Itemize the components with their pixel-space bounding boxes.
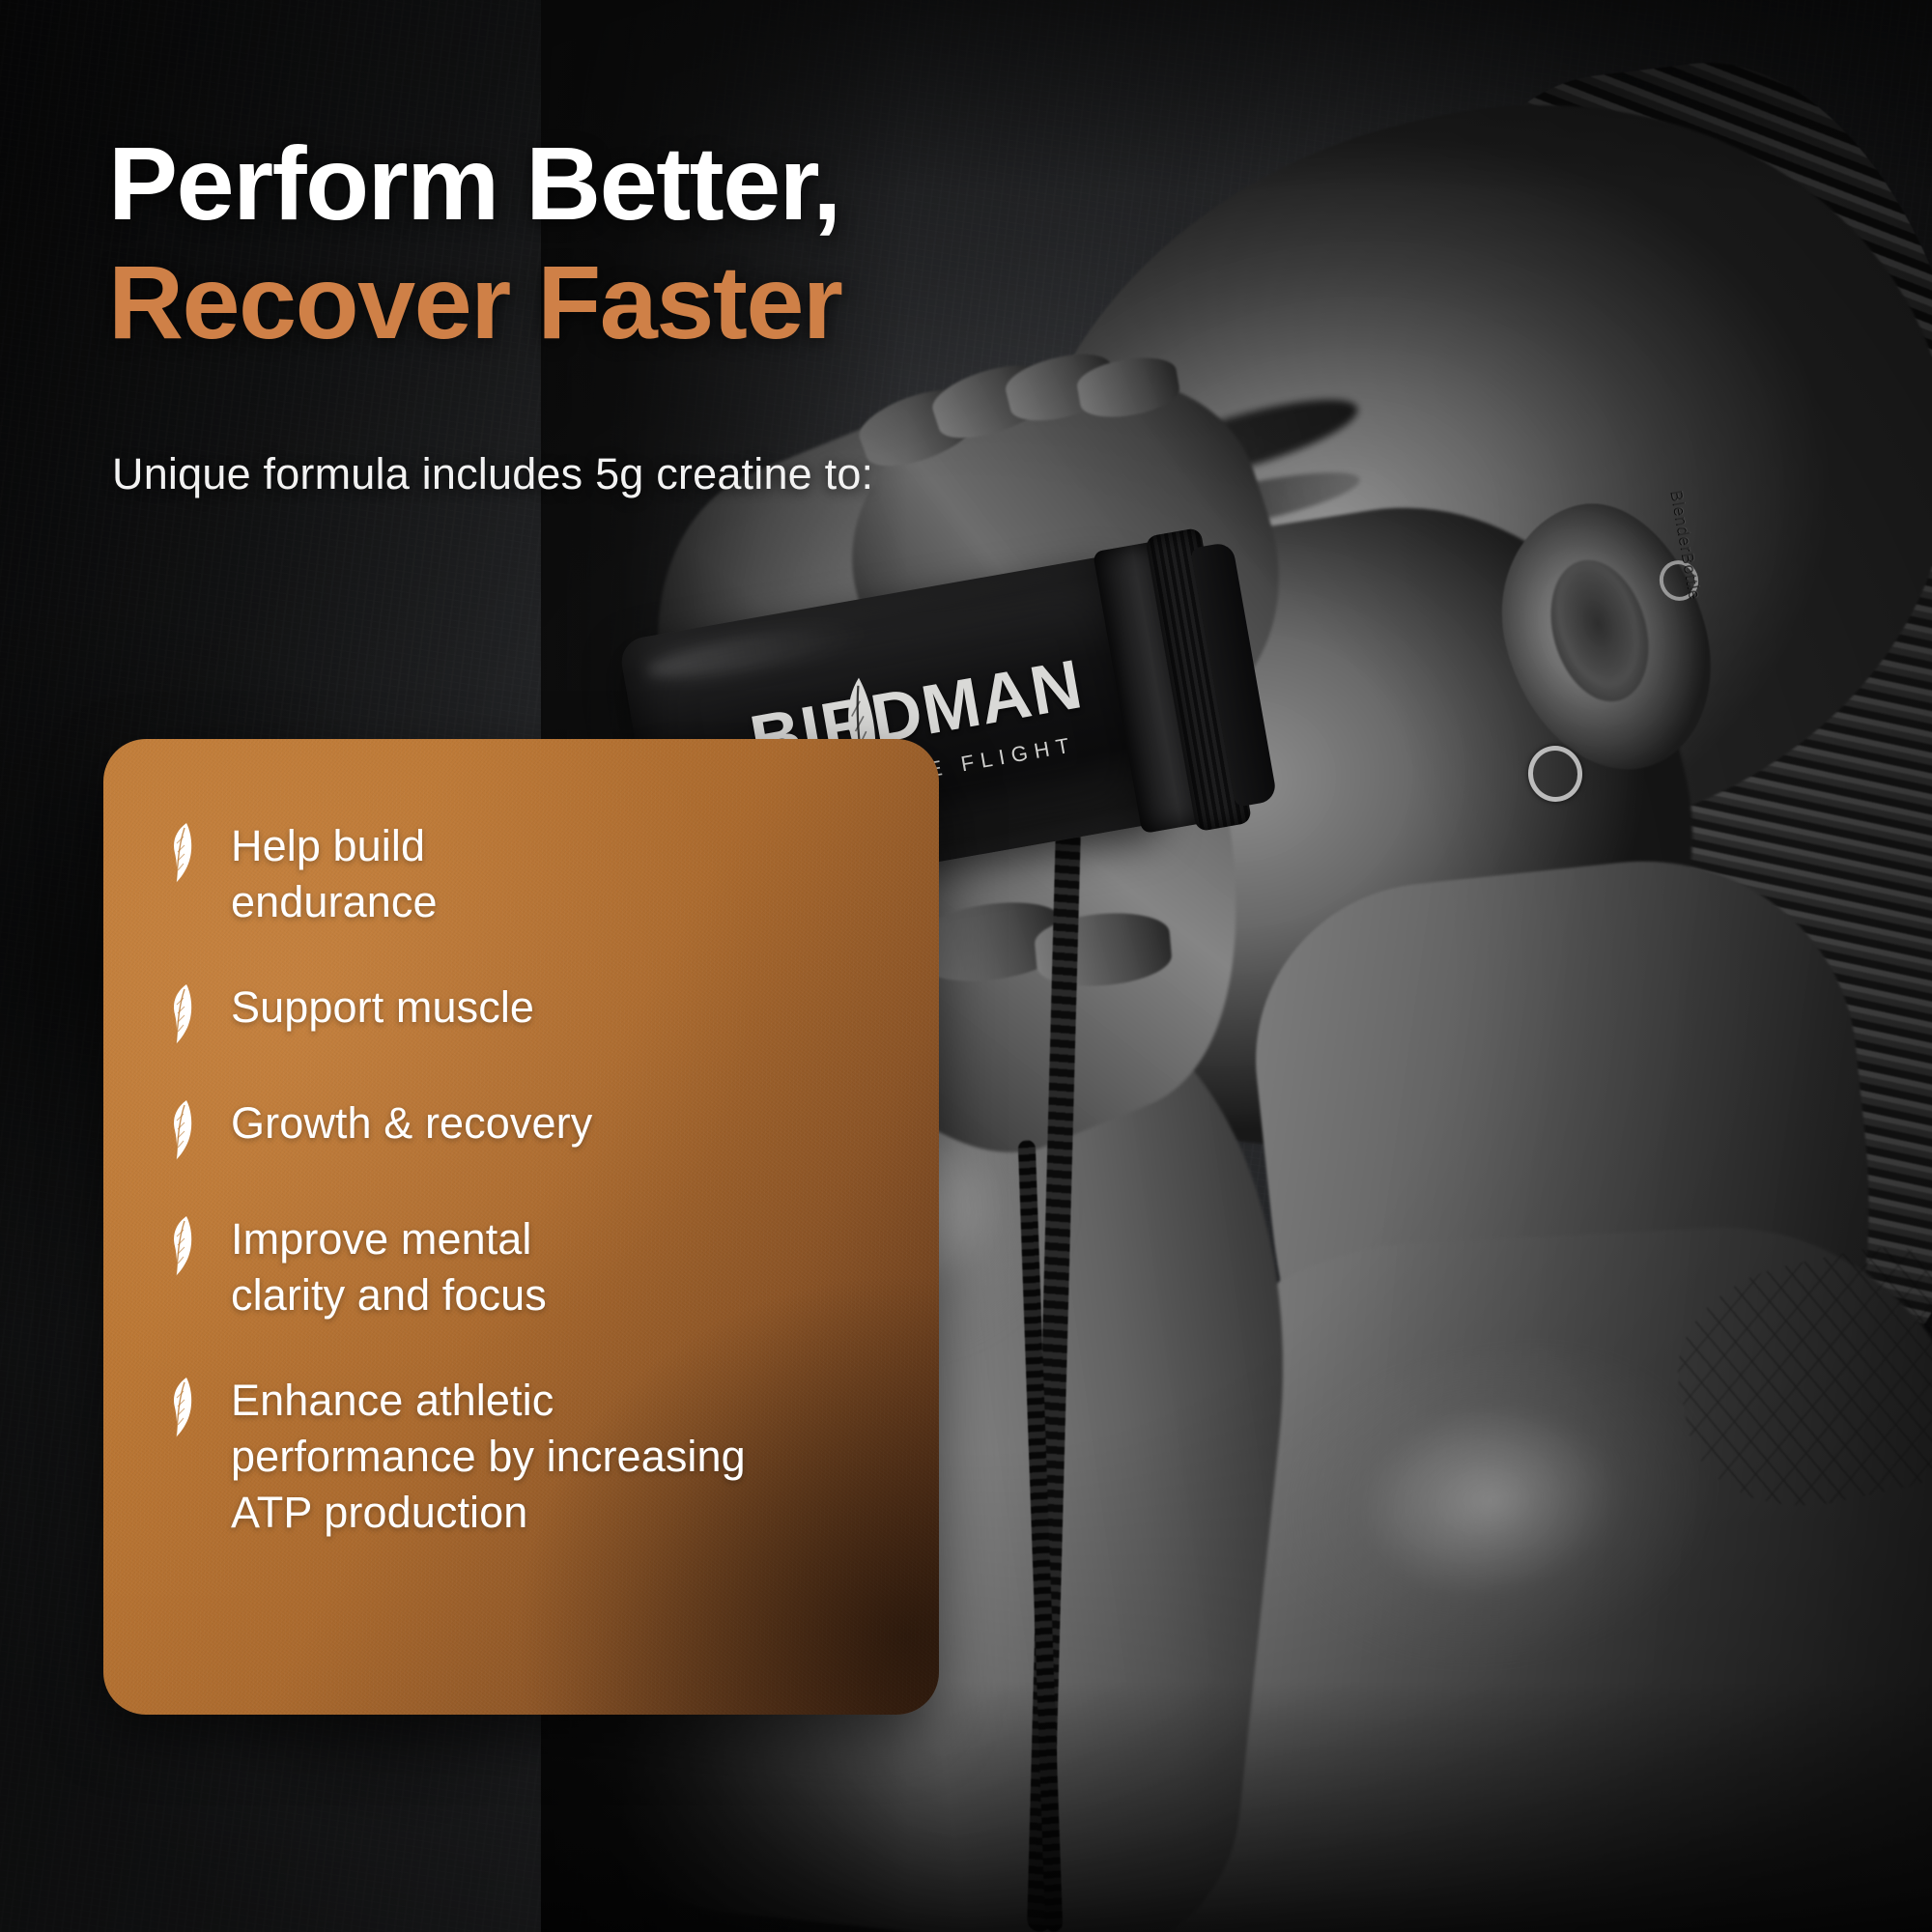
feather-icon	[163, 1377, 196, 1438]
feather-icon	[163, 1215, 196, 1277]
headline-block: Perform Better, Recover Faster	[108, 124, 1219, 361]
list-item: Help build endurance	[163, 818, 881, 929]
benefits-list: Help build endurance Support muscle Grow…	[103, 739, 939, 1715]
promo-banner: BlenderBottle BIRDMAN TAKE FLIGHT Perfor…	[0, 0, 1932, 1932]
headline-line-2: Recover Faster	[108, 242, 1219, 361]
headline-line-1: Perform Better,	[108, 124, 1219, 242]
list-item-label: Enhance athletic performance by increasi…	[231, 1373, 810, 1540]
list-item: Enhance athletic performance by increasi…	[163, 1373, 881, 1540]
subtitle: Unique formula includes 5g creatine to:	[112, 449, 873, 499]
feather-icon	[163, 983, 196, 1045]
bottle-highlight	[643, 616, 867, 687]
list-item: Support muscle	[163, 980, 881, 1045]
benefits-panel: Help build endurance Support muscle Grow…	[103, 739, 939, 1715]
photo-fade-bottom	[541, 1681, 1932, 1932]
list-item-label: Support muscle	[231, 980, 534, 1036]
list-item: Improve mental clarity and focus	[163, 1211, 881, 1322]
list-item-label: Improve mental clarity and focus	[231, 1211, 646, 1322]
feather-icon	[163, 822, 196, 884]
list-item-label: Help build endurance	[231, 818, 579, 929]
feather-icon	[163, 1099, 196, 1161]
list-item-label: Growth & recovery	[231, 1095, 592, 1151]
list-item: Growth & recovery	[163, 1095, 881, 1161]
